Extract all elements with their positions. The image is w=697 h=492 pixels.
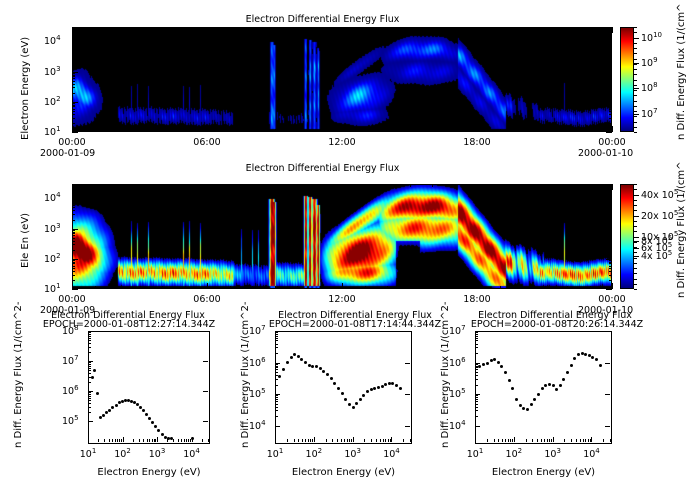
x-tick-minor — [98, 439, 99, 442]
x-tick-major-top — [207, 184, 208, 190]
x-tick-major-top — [477, 27, 478, 33]
data-point — [581, 352, 584, 355]
x-tick-minor — [547, 439, 548, 442]
colorbar-tick-minor — [634, 111, 637, 112]
y-tick-minor — [72, 275, 75, 276]
x-tick-label: 18:00 — [459, 294, 495, 305]
y-tick-major — [72, 289, 78, 290]
x-tick-major — [353, 437, 354, 442]
data-point — [304, 361, 307, 364]
x-tick-minor — [383, 439, 384, 442]
x-tick-minor — [388, 439, 389, 442]
y-tick-minor — [275, 344, 278, 345]
y-tick-label: 105 — [449, 387, 466, 400]
y-tick-minor — [475, 340, 478, 341]
data-point — [508, 379, 511, 382]
data-point — [145, 413, 148, 416]
x-tick-minor — [508, 439, 509, 442]
bottom-panel-1-plot[interactable] — [275, 331, 412, 444]
x-tick-minor — [117, 129, 118, 132]
x-tick-minor — [305, 439, 306, 442]
x-tick-minor-top — [275, 27, 276, 30]
y-tick-minor-right — [609, 63, 612, 64]
colorbar-tick-minor — [634, 38, 637, 39]
data-point — [341, 392, 344, 395]
x-tick-major — [391, 437, 392, 442]
x-tick-minor — [184, 439, 185, 442]
data-point — [278, 375, 281, 378]
bottom-panel-2-plot[interactable] — [475, 331, 612, 444]
data-point — [142, 409, 145, 412]
y-tick-minor — [275, 367, 278, 368]
y-tick-minor-right — [609, 57, 612, 58]
y-tick-minor — [475, 344, 478, 345]
top-panel-ylabel: Electron Energy (eV) — [20, 37, 31, 140]
y-tick-major-right — [606, 289, 612, 290]
x-tick-minor — [297, 129, 298, 132]
x-tick-minor — [403, 439, 404, 442]
y-tick-minor-right — [609, 48, 612, 49]
x-tick-minor — [202, 439, 203, 442]
x-tick-minor-top — [95, 27, 96, 30]
y-tick-minor — [88, 366, 91, 367]
x-tick-minor — [380, 439, 381, 442]
y-tick-minor — [72, 84, 75, 85]
y-tick-minor — [275, 375, 278, 376]
x-tick-minor — [410, 129, 411, 132]
x-tick-minor — [185, 286, 186, 289]
y-tick-label: 108 — [62, 324, 79, 337]
x-tick-minor-top — [320, 184, 321, 187]
x-tick-minor-top — [320, 27, 321, 30]
x-tick-label: 102 — [300, 447, 328, 460]
y-tick-label: 106 — [449, 356, 466, 369]
y-tick-minor — [72, 233, 75, 234]
x-tick-major — [475, 437, 476, 442]
y-tick-minor — [72, 106, 75, 107]
y-tick-minor — [72, 53, 75, 54]
data-point — [595, 358, 598, 361]
x-tick-minor — [500, 129, 501, 132]
y-tick-minor — [275, 385, 278, 386]
y-tick-minor-right — [609, 262, 612, 263]
x-tick-major — [553, 437, 554, 442]
x-tick-minor — [567, 129, 568, 132]
y-tick-label: 102 — [44, 252, 61, 265]
colorbar-tick-minor — [634, 210, 637, 211]
x-tick-minor — [95, 286, 96, 289]
data-point — [362, 394, 365, 397]
y-tick-minor — [475, 401, 478, 402]
y-tick-minor — [72, 73, 75, 74]
top-panel-colorbar-label: n Diff. Energy Flux (1/(cm^ — [676, 3, 687, 140]
x-tick-major-top — [72, 184, 73, 190]
colorbar-tick-minor — [634, 268, 637, 269]
data-point — [511, 387, 514, 390]
x-tick-minor — [104, 439, 105, 442]
data-point — [548, 383, 551, 386]
x-tick-minor — [544, 439, 545, 442]
x-tick-minor-top — [387, 27, 388, 30]
mid-panel-colorbar-label-wrap: n Diff. Energy Flux (1/(cm^ — [676, 298, 697, 309]
y-tick-minor — [72, 78, 75, 79]
y-tick-minor-right — [609, 93, 612, 94]
x-tick-label: 12:00 — [324, 294, 360, 305]
y-tick-minor-right — [609, 114, 612, 115]
data-point — [111, 406, 114, 409]
x-tick-major — [591, 437, 592, 442]
y-tick-minor — [72, 103, 75, 104]
y-tick-minor — [275, 395, 278, 396]
y-tick-minor-right — [609, 109, 612, 110]
bottom-panel-0-epoch: EPOCH=2000-01-08T12:27:14.344Z — [24, 319, 234, 330]
top-panel-xdate-left: 2000-01-09 — [40, 148, 95, 159]
data-point — [315, 365, 318, 368]
x-tick-minor — [208, 439, 209, 442]
y-tick-minor — [88, 332, 91, 333]
y-tick-minor — [72, 57, 75, 58]
y-tick-minor — [72, 250, 75, 251]
data-point — [170, 437, 173, 440]
colorbar-tick-minor — [634, 258, 637, 259]
x-tick-minor — [571, 439, 572, 442]
y-tick-label: 103 — [44, 65, 61, 78]
y-tick-minor — [88, 412, 91, 413]
colorbar-tick-minor — [634, 231, 637, 232]
bottom-panel-1-xlabel: Electron Energy (eV) — [275, 467, 412, 478]
x-tick-minor — [344, 439, 345, 442]
mid-panel-title: Electron Differential Energy Flux — [0, 163, 645, 174]
data-point — [388, 382, 391, 385]
x-tick-minor — [252, 286, 253, 289]
colorbar-tick-minor — [634, 242, 637, 243]
x-tick-label: 103 — [143, 447, 171, 460]
data-point — [504, 371, 507, 374]
y-tick-major-right — [405, 363, 410, 364]
colorbar-tick-minor — [634, 132, 637, 133]
data-point — [108, 409, 111, 412]
x-tick-major — [477, 126, 478, 132]
colorbar-tick-minor — [634, 48, 637, 49]
data-point — [352, 406, 355, 409]
data-point — [330, 377, 333, 380]
x-tick-minor-top — [432, 184, 433, 187]
y-tick-minor — [72, 271, 75, 272]
data-point — [91, 376, 94, 379]
x-tick-major — [72, 283, 73, 289]
y-tick-minor-right — [609, 238, 612, 239]
colorbar-tick-minor — [634, 284, 637, 285]
x-tick-minor — [502, 439, 503, 442]
y-tick-minor-right — [609, 78, 612, 79]
x-tick-label: 101 — [461, 447, 489, 460]
y-tick-minor — [475, 410, 478, 411]
x-tick-minor — [545, 129, 546, 132]
x-tick-minor-top — [455, 27, 456, 30]
data-point — [290, 356, 293, 359]
data-point — [381, 385, 384, 388]
y-tick-minor — [275, 372, 278, 373]
x-tick-major-top — [72, 27, 73, 33]
y-tick-minor — [72, 201, 75, 202]
data-point — [115, 404, 118, 407]
y-tick-major — [72, 102, 78, 103]
y-tick-minor — [275, 407, 278, 408]
y-tick-minor — [475, 372, 478, 373]
x-tick-minor-top — [410, 184, 411, 187]
x-tick-minor — [545, 286, 546, 289]
bottom-panel-0-plot[interactable] — [88, 331, 210, 444]
y-tick-minor — [72, 238, 75, 239]
y-tick-minor — [72, 111, 75, 112]
x-tick-minor — [149, 439, 150, 442]
x-tick-minor — [494, 439, 495, 442]
y-tick-minor — [72, 214, 75, 215]
y-tick-minor-right — [609, 230, 612, 231]
y-tick-label: 106 — [249, 356, 266, 369]
data-point — [497, 361, 500, 364]
data-point — [500, 365, 503, 368]
x-tick-minor-top — [365, 27, 366, 30]
x-tick-minor — [432, 129, 433, 132]
x-tick-minor — [230, 129, 231, 132]
x-tick-major — [342, 126, 343, 132]
x-tick-major — [123, 437, 124, 442]
colorbar-tick-minor — [634, 189, 637, 190]
y-tick-minor-right — [609, 118, 612, 119]
y-tick-major — [275, 426, 280, 427]
x-tick-minor — [532, 439, 533, 442]
y-tick-major-right — [606, 41, 612, 42]
x-tick-minor-top — [297, 27, 298, 30]
data-point — [570, 364, 573, 367]
colorbar-tick-minor — [634, 101, 637, 102]
x-tick-minor-top — [500, 184, 501, 187]
y-tick-minor-right — [609, 280, 612, 281]
y-tick-label: 104 — [449, 419, 466, 432]
data-point — [311, 365, 314, 368]
colorbar-tick-minor — [634, 122, 637, 123]
x-tick-minor — [537, 439, 538, 442]
x-tick-major — [88, 437, 89, 442]
colorbar-tick-minor — [634, 69, 637, 70]
data-point — [493, 358, 496, 361]
y-tick-label: 105 — [62, 414, 79, 427]
y-tick-minor — [88, 343, 91, 344]
mid-panel-colorbar[interactable] — [620, 184, 634, 289]
y-tick-major-right — [606, 102, 612, 103]
colorbar-tick-minor — [634, 195, 637, 196]
x-tick-minor — [115, 439, 116, 442]
x-tick-minor — [140, 286, 141, 289]
y-tick-minor — [88, 377, 91, 378]
y-tick-minor — [72, 210, 75, 211]
y-tick-minor — [475, 338, 478, 339]
x-tick-minor-top — [410, 27, 411, 30]
x-tick-minor — [549, 439, 550, 442]
data-point — [482, 363, 485, 366]
y-tick-minor — [475, 353, 478, 354]
data-point — [537, 393, 540, 396]
y-tick-minor — [72, 244, 75, 245]
data-point — [157, 429, 160, 432]
y-tick-major — [475, 331, 480, 332]
colorbar-tick-minor — [634, 226, 637, 227]
data-point — [151, 421, 154, 424]
data-point — [308, 364, 311, 367]
x-tick-minor — [337, 439, 338, 442]
x-tick-minor — [522, 129, 523, 132]
mid-panel-ylabel-wrap: Ele En (eV) — [20, 268, 75, 279]
y-tick-label: 103 — [44, 222, 61, 235]
x-tick-minor — [117, 286, 118, 289]
colorbar-tick-minor — [634, 27, 637, 28]
y-tick-minor — [72, 48, 75, 49]
x-tick-minor — [320, 129, 321, 132]
data-point — [541, 387, 544, 390]
x-tick-minor — [133, 439, 134, 442]
x-tick-minor-top — [140, 184, 141, 187]
x-tick-minor — [564, 439, 565, 442]
colorbar-tick-minor — [634, 263, 637, 264]
x-tick-major — [72, 126, 73, 132]
colorbar-tick-label: 1010 — [641, 31, 662, 44]
y-tick-minor — [475, 369, 478, 370]
data-point — [544, 384, 547, 387]
x-tick-minor — [364, 439, 365, 442]
x-tick-major — [342, 283, 343, 289]
x-tick-label: 101 — [261, 447, 289, 460]
x-tick-minor — [580, 439, 581, 442]
y-tick-major-right — [203, 331, 208, 332]
y-tick-minor — [275, 338, 278, 339]
y-tick-major-right — [203, 421, 208, 422]
y-tick-minor-right — [609, 220, 612, 221]
x-tick-label: 104 — [178, 447, 206, 460]
y-tick-minor-right — [609, 201, 612, 202]
y-tick-minor-right — [609, 87, 612, 88]
x-tick-minor-top — [117, 27, 118, 30]
x-tick-label: 104 — [377, 447, 405, 460]
y-tick-minor-right — [609, 53, 612, 54]
data-point — [319, 367, 322, 370]
y-tick-minor — [88, 364, 91, 365]
y-tick-major — [72, 259, 78, 260]
data-point — [373, 387, 376, 390]
y-tick-major-right — [606, 229, 612, 230]
x-tick-major — [207, 126, 208, 132]
data-point — [486, 362, 489, 365]
y-tick-minor — [475, 375, 478, 376]
x-tick-minor — [510, 439, 511, 442]
y-tick-major — [88, 421, 93, 422]
x-tick-minor — [410, 439, 411, 442]
y-tick-major — [475, 394, 480, 395]
colorbar-tick-minor — [634, 43, 637, 44]
y-tick-minor — [475, 407, 478, 408]
y-tick-major — [72, 72, 78, 73]
x-tick-minor-top — [230, 27, 231, 30]
x-tick-minor — [500, 286, 501, 289]
y-tick-minor — [72, 205, 75, 206]
y-tick-minor — [475, 336, 478, 337]
y-tick-label: 107 — [449, 324, 466, 337]
colorbar-tick-minor — [634, 80, 637, 81]
y-tick-minor — [275, 379, 278, 380]
y-tick-minor-right — [609, 210, 612, 211]
x-tick-minor-top — [140, 27, 141, 30]
x-tick-minor — [590, 286, 591, 289]
data-point — [322, 370, 325, 373]
y-tick-minor — [72, 118, 75, 119]
data-point — [522, 407, 525, 410]
x-tick-minor-top — [185, 27, 186, 30]
x-tick-minor — [298, 439, 299, 442]
y-tick-minor — [72, 109, 75, 110]
y-tick-minor — [72, 260, 75, 261]
y-tick-major — [88, 331, 93, 332]
y-tick-major — [88, 391, 93, 392]
y-tick-major-right — [605, 394, 610, 395]
x-tick-label: 00:00 — [594, 137, 630, 148]
y-tick-major — [72, 229, 78, 230]
data-point — [366, 390, 369, 393]
y-tick-minor — [275, 332, 278, 333]
data-point — [297, 355, 300, 358]
colorbar-tick-minor — [634, 279, 637, 280]
x-tick-label: 06:00 — [189, 294, 225, 305]
x-tick-minor — [186, 439, 187, 442]
y-tick-major — [475, 426, 480, 427]
y-tick-minor — [72, 241, 75, 242]
y-tick-minor — [72, 114, 75, 115]
y-tick-minor — [72, 266, 75, 267]
x-tick-minor — [349, 439, 350, 442]
x-tick-label: 103 — [539, 447, 567, 460]
x-tick-minor-top — [117, 184, 118, 187]
y-tick-minor — [88, 392, 91, 393]
y-tick-minor-right — [609, 123, 612, 124]
colorbar-tick-label: 107 — [641, 107, 658, 120]
y-tick-label: 107 — [249, 324, 266, 337]
data-point — [584, 353, 587, 356]
y-tick-minor — [72, 280, 75, 281]
x-tick-minor — [287, 439, 288, 442]
data-point — [395, 384, 398, 387]
y-tick-minor — [275, 397, 278, 398]
y-tick-minor — [72, 93, 75, 94]
data-point — [591, 356, 594, 359]
y-tick-minor-right — [609, 111, 612, 112]
data-point — [326, 373, 329, 376]
y-tick-minor-right — [609, 44, 612, 45]
y-tick-minor-right — [609, 76, 612, 77]
y-tick-minor — [72, 81, 75, 82]
x-tick-minor — [95, 129, 96, 132]
x-tick-minor-top — [230, 184, 231, 187]
y-tick-major-right — [203, 391, 208, 392]
colorbar-tick-minor — [634, 106, 637, 107]
data-point — [533, 398, 536, 401]
x-tick-major — [612, 126, 613, 132]
x-tick-major — [477, 283, 478, 289]
x-tick-minor-top — [387, 184, 388, 187]
top-panel-frame — [72, 27, 612, 132]
x-tick-minor — [139, 439, 140, 442]
top-panel-colorbar[interactable] — [620, 27, 634, 132]
y-tick-minor-right — [609, 260, 612, 261]
x-tick-minor-top — [297, 184, 298, 187]
